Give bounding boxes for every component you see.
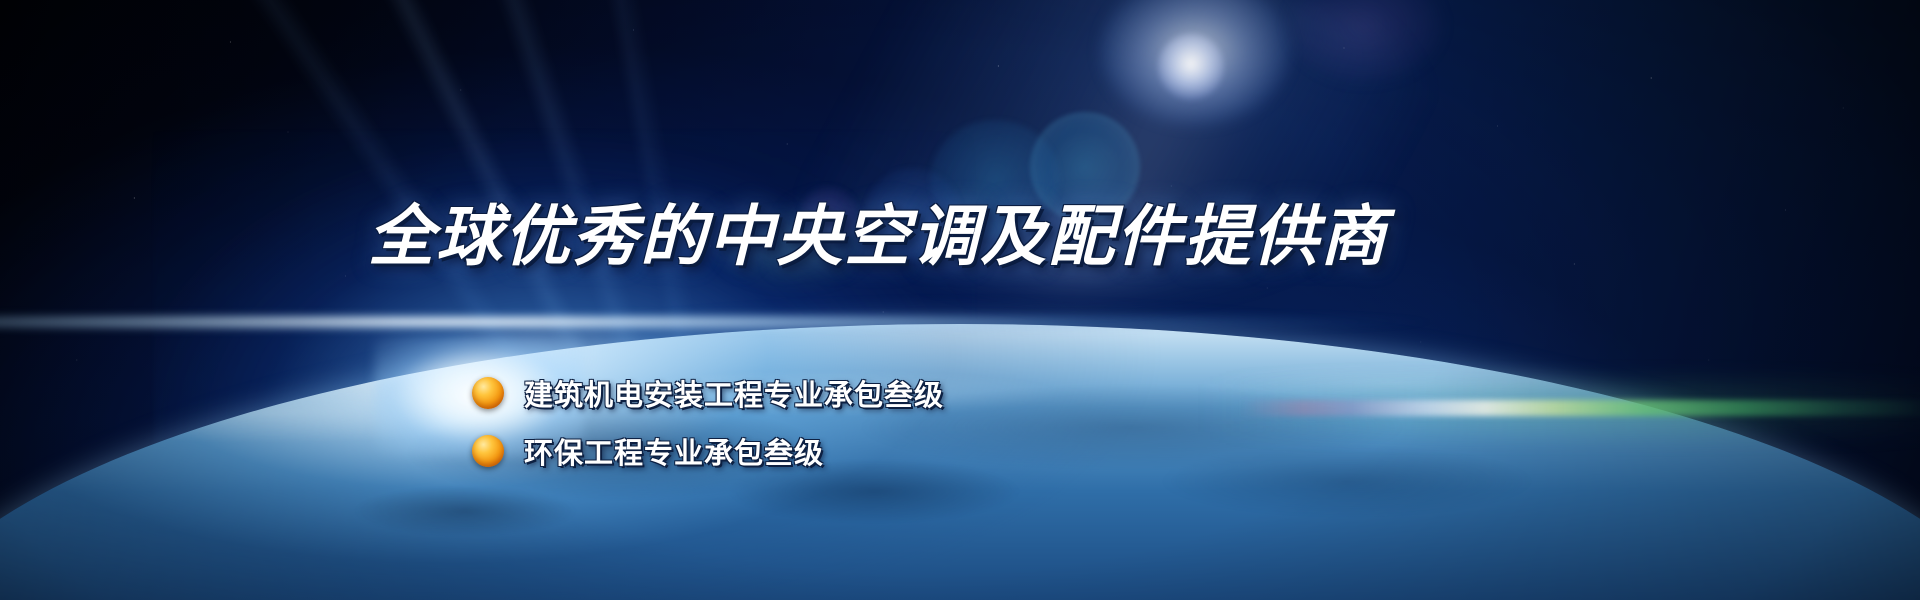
hero-banner: 全球优秀的中央空调及配件提供商 建筑机电安装工程专业承包叁级 环保工程专业承包叁… bbox=[0, 0, 1920, 600]
qualification-list: 建筑机电安装工程专业承包叁级 环保工程专业承包叁级 bbox=[472, 372, 944, 472]
list-item-label: 环保工程专业承包叁级 bbox=[524, 430, 824, 472]
banner-headline: 全球优秀的中央空调及配件提供商 bbox=[368, 204, 1388, 270]
list-item-label: 建筑机电安装工程专业承包叁级 bbox=[524, 372, 944, 414]
list-item: 建筑机电安装工程专业承包叁级 bbox=[472, 372, 944, 414]
banner-content: 全球优秀的中央空调及配件提供商 建筑机电安装工程专业承包叁级 环保工程专业承包叁… bbox=[0, 0, 1920, 600]
gold-dot-icon bbox=[472, 377, 504, 409]
gold-dot-icon bbox=[472, 435, 504, 467]
list-item: 环保工程专业承包叁级 bbox=[472, 430, 944, 472]
